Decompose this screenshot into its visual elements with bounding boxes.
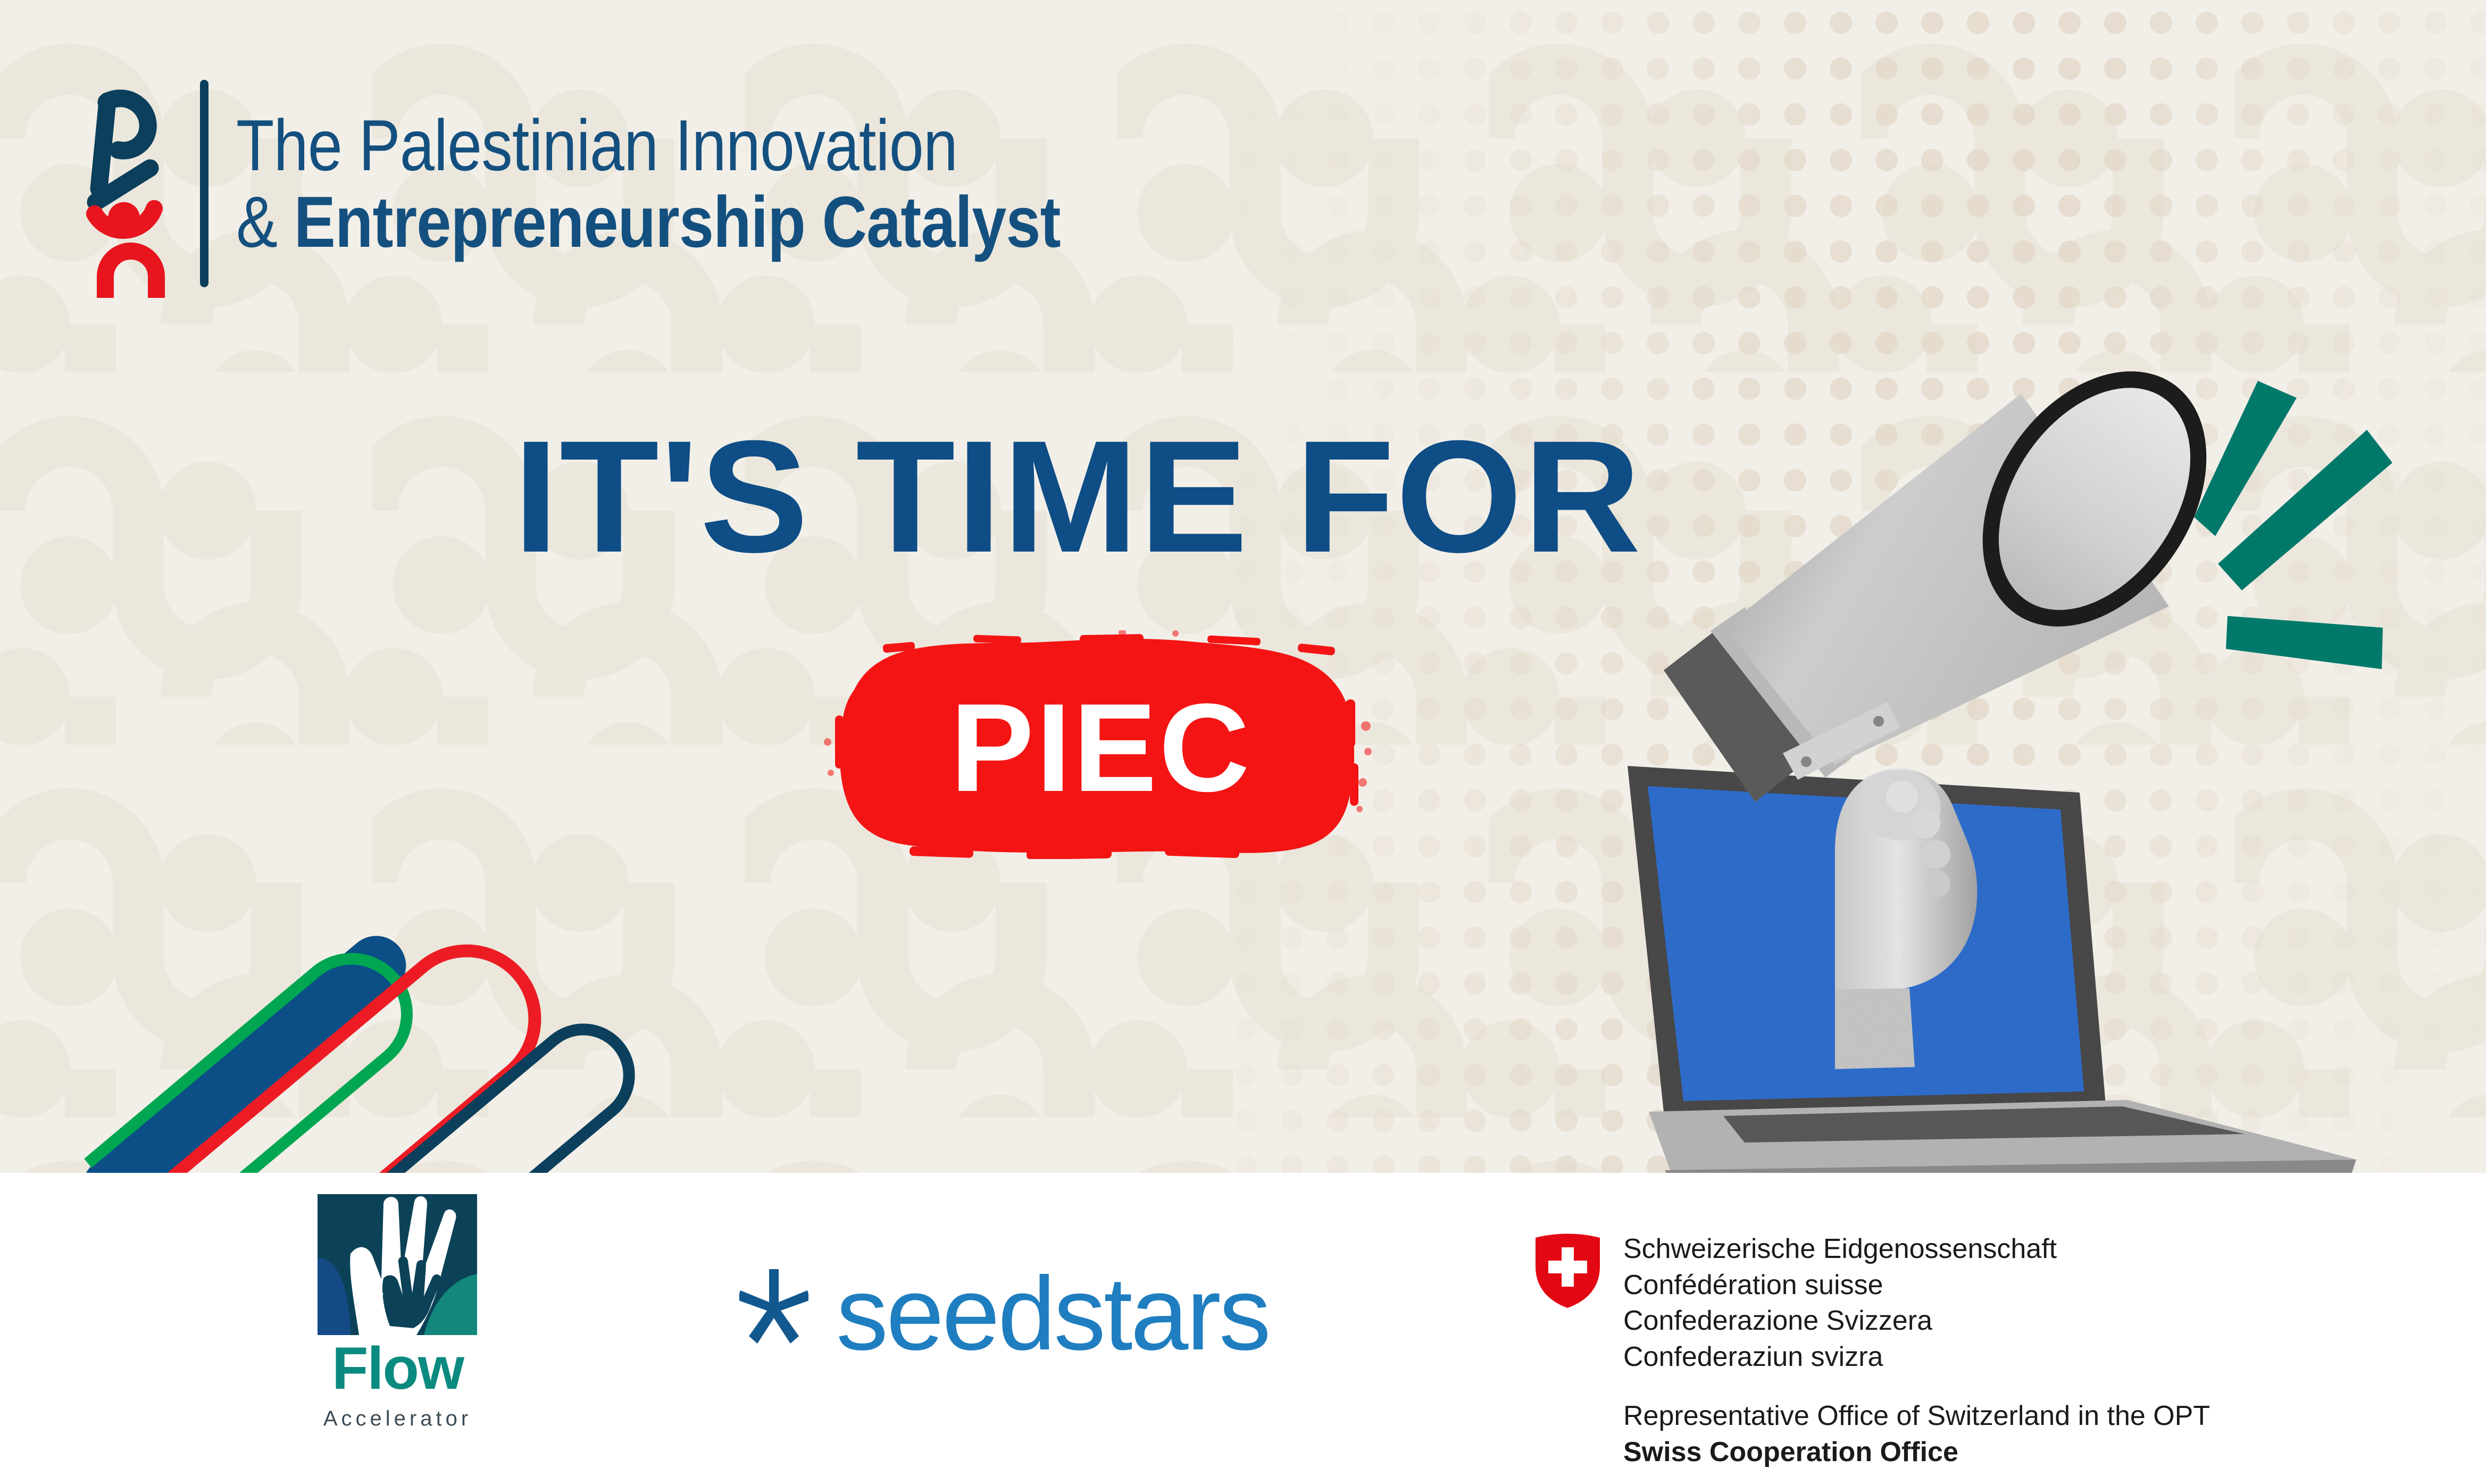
swiss-line-de: Schweizerische Eidgenossenschaft	[1623, 1231, 2210, 1268]
swiss-office-bold: Swiss Cooperation Office	[1623, 1435, 2210, 1471]
piec-badge: PIEC	[803, 630, 1399, 859]
piec-logo-mark-icon	[80, 69, 181, 298]
swiss-shield-icon	[1534, 1233, 1601, 1308]
seedstars-wordmark: seedstars	[836, 1262, 1269, 1366]
swoosh-shapes-svg	[0, 761, 883, 1181]
swiss-confederation-logo: Schweizerische Eidgenossenschaft Confédé…	[1534, 1231, 2210, 1471]
brand-divider	[200, 80, 208, 287]
hero-collage	[1585, 330, 2486, 1181]
hero-collage-svg	[1585, 330, 2486, 1181]
swiss-line-fr: Confédération suisse	[1623, 1268, 2210, 1304]
flow-hands-icon	[318, 1194, 477, 1335]
seedstars-asterisk-icon	[739, 1269, 808, 1358]
swiss-spacer	[1623, 1375, 2210, 1398]
brand-lockup: The Palestinian Innovation & Entrepreneu…	[80, 69, 1195, 298]
laptop-icon	[1628, 766, 2356, 1181]
swiss-text-block: Schweizerische Eidgenossenschaft Confédé…	[1623, 1231, 2210, 1471]
brand-line-2-prefix: &	[236, 181, 294, 262]
swiss-office-line: Representative Office of Switzerland in …	[1623, 1398, 2210, 1435]
piec-badge-label: PIEC	[803, 633, 1399, 862]
flow-accelerator-logo: Flow Accelerator	[306, 1194, 489, 1460]
sponsor-footer: Flow Accelerator seedstars Schweizerisch…	[0, 1173, 2486, 1484]
megaphone-icon	[1664, 330, 2253, 802]
brand-line-2: & Entrepreneurship Catalyst	[236, 184, 1061, 260]
brand-line-1: The Palestinian Innovation	[236, 107, 1061, 184]
swiss-line-it: Confederazione Svizzera	[1623, 1303, 2210, 1339]
flow-subtitle: Accelerator	[306, 1407, 489, 1431]
flow-hands-svg	[318, 1194, 477, 1335]
page-title: IT'S TIME FOR	[513, 404, 1642, 588]
brand-line-2-bold: Entrepreneurship Catalyst	[294, 181, 1061, 262]
flow-wordmark: Flow	[306, 1339, 489, 1398]
decorative-swooshes	[0, 761, 883, 1181]
burst-lines-icon	[2194, 381, 2392, 669]
swiss-line-rm: Confederaziun svizra	[1623, 1339, 2210, 1375]
brand-text: The Palestinian Innovation & Entrepreneu…	[236, 107, 1195, 260]
seedstars-logo: seedstars	[739, 1253, 1269, 1375]
poster-canvas: The Palestinian Innovation & Entrepreneu…	[0, 0, 2486, 1484]
